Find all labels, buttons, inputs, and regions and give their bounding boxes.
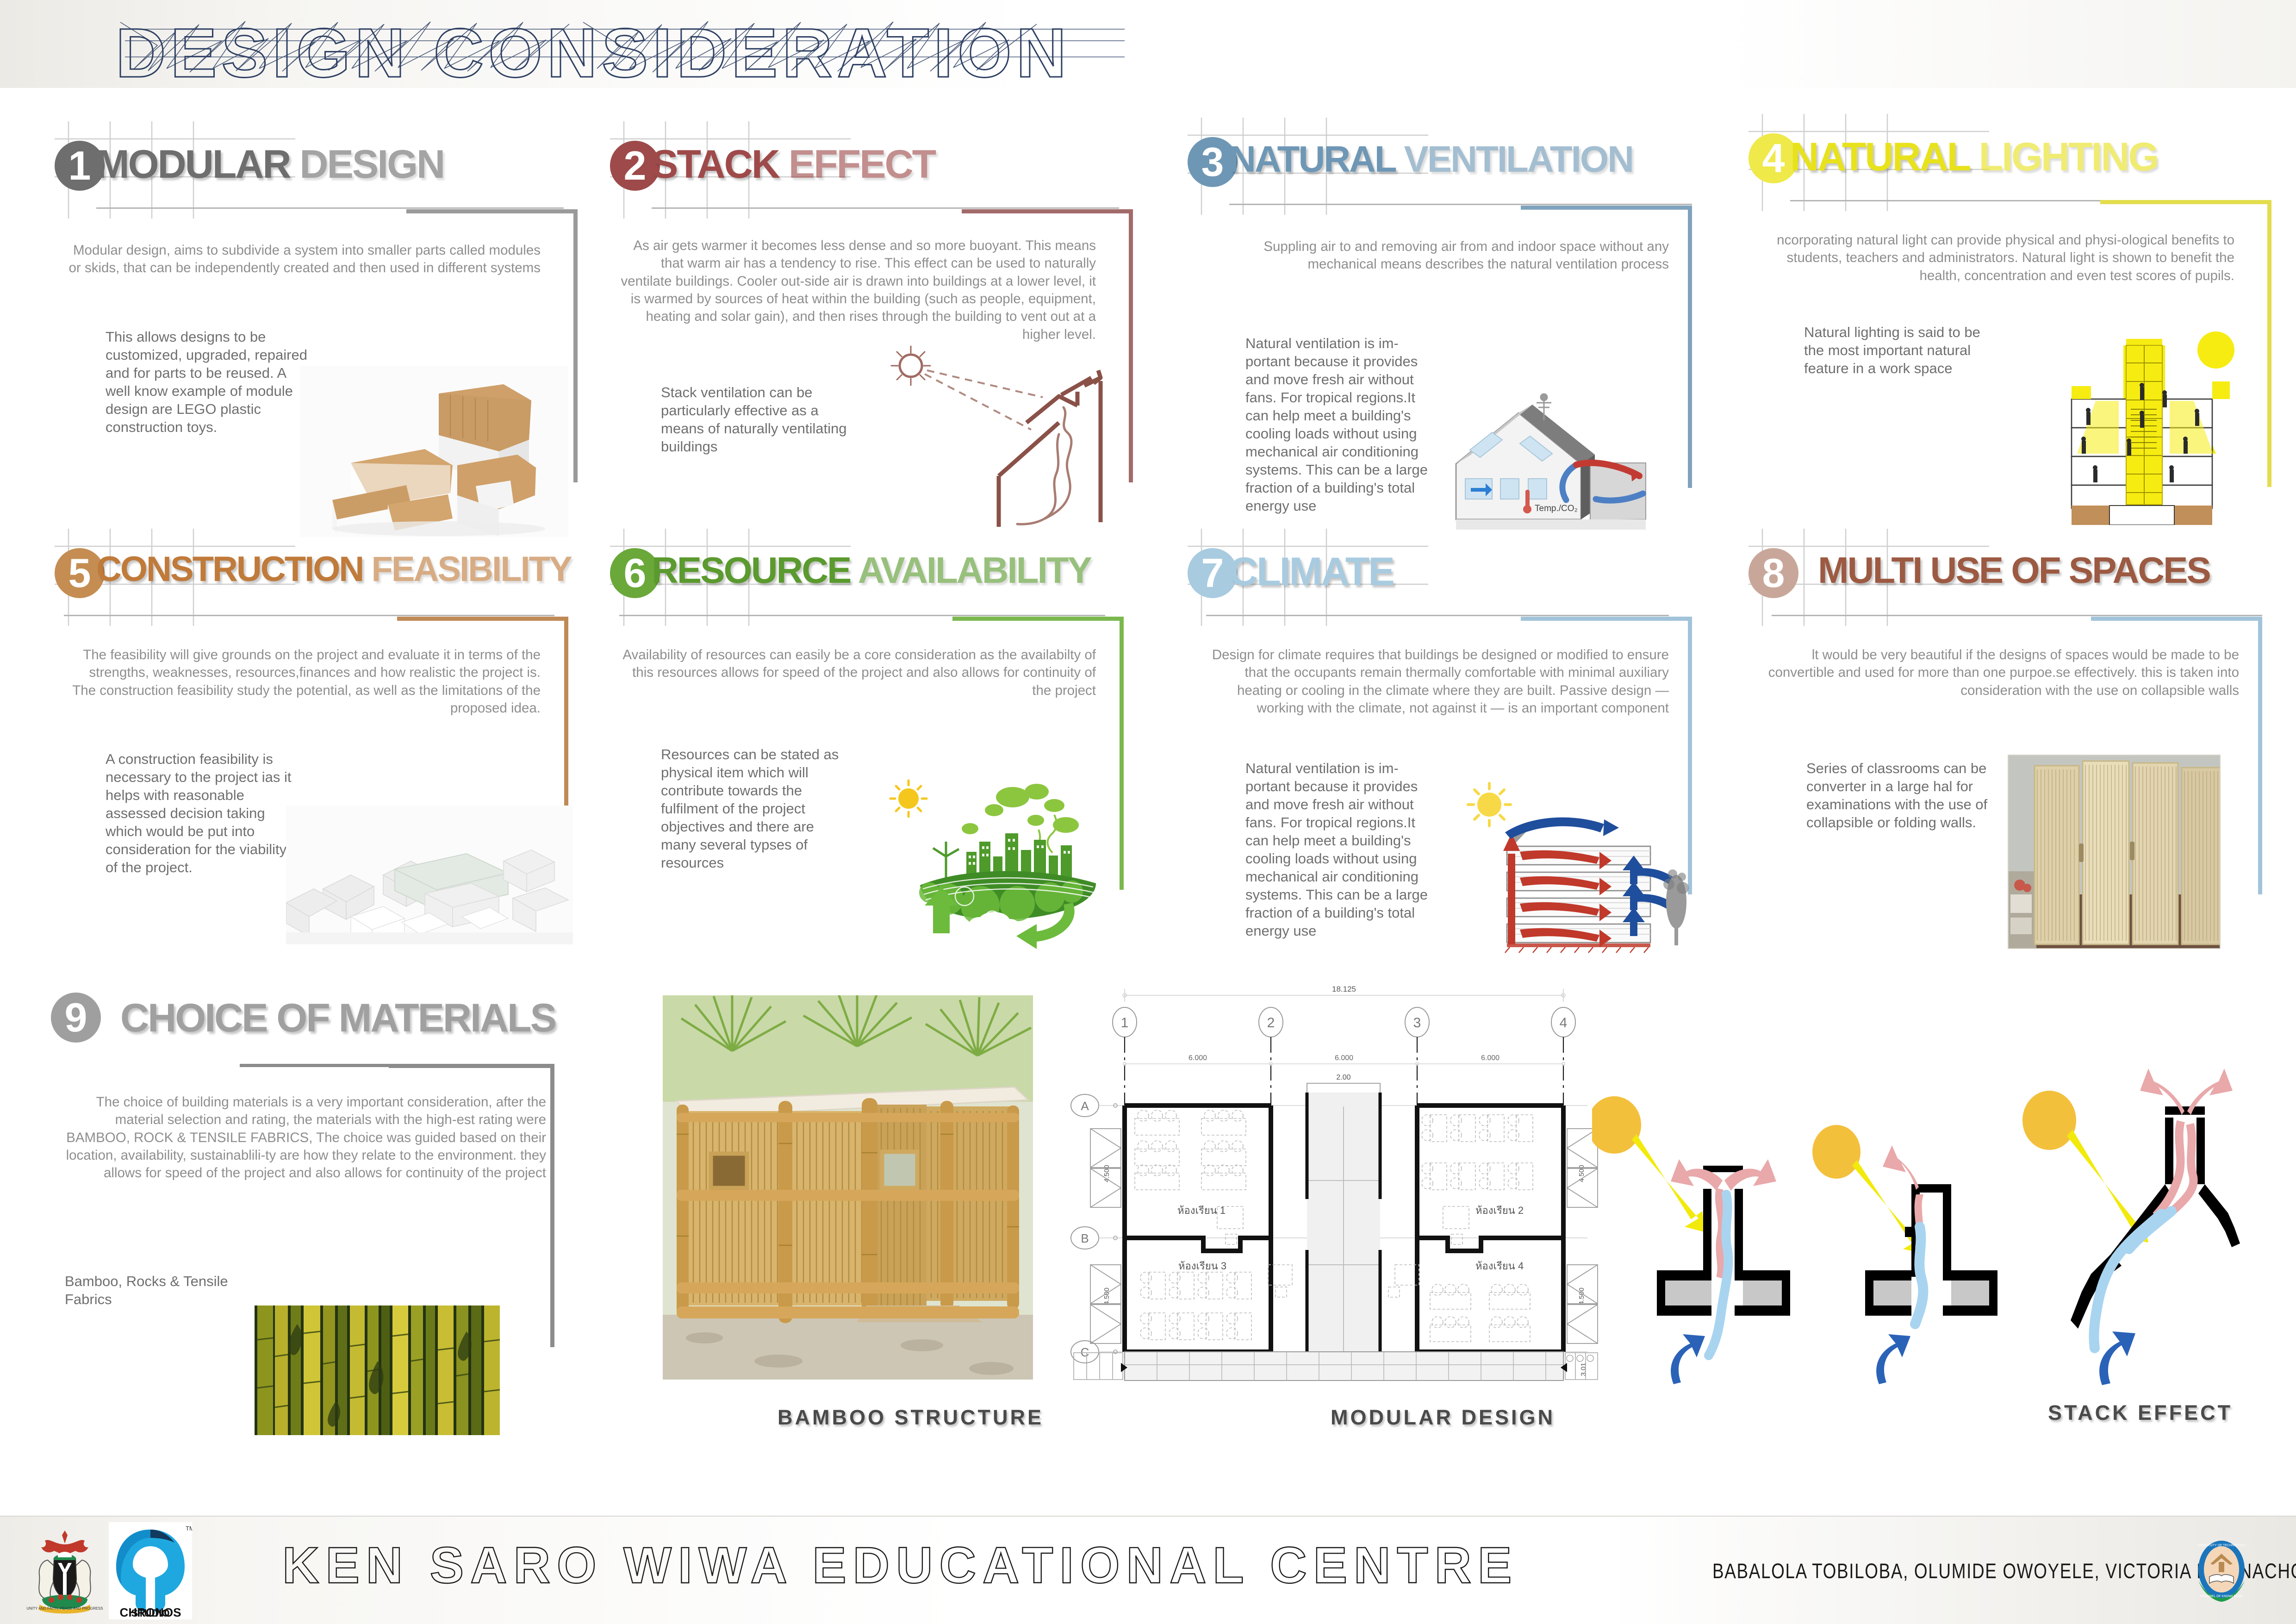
section-choice-of-materials: 9 CHOICE OF MATERIALS The choice of buil…: [46, 981, 583, 1051]
svg-text:UNIVERSITY OF TECHNOLOGY: UNIVERSITY OF TECHNOLOGY: [2197, 1544, 2246, 1547]
section-intro-text: Suppling air to and removing air from an…: [1201, 238, 1669, 274]
stack-diagram-1: [1592, 1096, 1790, 1384]
classroom-floor-plan: 18.125 1 2 3 4 6.000 6.000: [1064, 981, 1620, 1389]
studio-sub-label: STUDIO: [109, 1607, 192, 1619]
grid-label-2: 2: [1267, 1015, 1275, 1031]
section-header: 2 STACK EFFECT: [610, 139, 1119, 208]
title-underline: [619, 615, 1105, 616]
section-intro-text: As air gets warmer it becomes less dense…: [619, 237, 1096, 344]
passive-cooling-section-diagram: [1437, 778, 1697, 954]
title-underline: [1229, 204, 1692, 205]
section-header: 5 CONSTRUCTION FEASIBILITY: [55, 546, 578, 616]
stack-diagram-2: [1812, 1125, 1997, 1384]
section-title: NATURAL VENTILATION: [1229, 138, 1633, 181]
title-underline: [1206, 615, 1669, 616]
section-title-word1: MULTI USE OF SPACES: [1818, 550, 2210, 591]
svg-text:TM: TM: [186, 1525, 192, 1532]
section-detail-text: Natural lighting is said to be the most …: [1804, 323, 2003, 377]
section-construction-feasibility: 5 CONSTRUCTION FEASIBILITY The feasibili…: [55, 546, 578, 616]
footer-project-title: KEN SARO WIWA EDUCATIONAL CENTRE: [282, 1536, 1518, 1595]
section-title-word1: STACK: [652, 142, 779, 187]
section-intro-text: lt would be very beautiful if the design…: [1758, 646, 2239, 700]
section-title-word1: CONSTRUCTION: [96, 550, 363, 589]
section-header: 7 CLIMATE: [1188, 546, 1692, 616]
section-title-word1: RESOURCE: [652, 550, 850, 591]
section-title-word1: CLIMATE: [1229, 550, 1394, 594]
grid-label-3: 3: [1413, 1015, 1421, 1031]
title-underline: [64, 615, 554, 616]
section-intro-text: Design for climate requires that buildin…: [1197, 646, 1669, 717]
section-header: 1 MODULAR DESIGN: [55, 139, 564, 208]
section-title-word1: CHOICE OF MATERIALS: [120, 996, 555, 1040]
bay-dimension-2: 6.000: [1335, 1054, 1353, 1062]
grid-label-A: A: [1081, 1099, 1089, 1113]
section-title-word2: AVAILABILITY: [858, 550, 1091, 591]
section-title-word2: VENTILATION: [1404, 138, 1632, 180]
section-title-word1: MODULAR: [96, 142, 290, 187]
section-title: MODULAR DESIGN: [96, 142, 444, 187]
section-title: CONSTRUCTION FEASIBILITY: [96, 549, 571, 589]
grid-label-4: 4: [1560, 1015, 1568, 1031]
section-resource-availability: 6 RESOURCE AVAILABILITY Availability of …: [610, 546, 1119, 616]
modular-furniture-photo: [300, 366, 568, 537]
section-number-badge: 9: [51, 993, 101, 1043]
nigeria-coat-of-arms-icon: UNITY AND FAITH, PEACE AND PROGRESS: [25, 1527, 104, 1615]
grid-label-1: 1: [1121, 1015, 1129, 1031]
overall-dimension-label: 18.125: [1332, 985, 1356, 993]
board-title-bar: DESIGN CONSIDERATION: [0, 0, 2296, 88]
room-label-4: ห้องเรียน 4: [1475, 1260, 1524, 1272]
section-detail-text: Series of classrooms can be converter in…: [1806, 759, 1996, 831]
row-dimension-4: 4.500: [1578, 1287, 1586, 1305]
section-detail-text: Resources can be stated as physical item…: [661, 745, 846, 872]
bay-dimension-1: 6.000: [1188, 1054, 1207, 1062]
caption-stack-effect: STACK EFFECT: [2048, 1401, 2233, 1425]
svg-text:Temp./CO₂: Temp./CO₂: [1535, 504, 1578, 513]
section-detail-text: Stack ventilation can be particularly ef…: [661, 383, 855, 456]
svg-text:CHANNEL OF KNOWLEDGE: CHANNEL OF KNOWLEDGE: [2200, 1595, 2243, 1598]
section-header: 6 RESOURCE AVAILABILITY: [610, 546, 1119, 616]
row-dimension-2: 4.500: [1103, 1287, 1111, 1305]
daylight-building-section: [2031, 317, 2253, 525]
section-modular-design: 1 MODULAR DESIGN Modular design, aims to…: [55, 139, 564, 208]
section-title: STACK EFFECT: [652, 142, 935, 187]
section-intro-text: Availability of resources can easily be …: [619, 646, 1096, 700]
section-title-word2: LIGHTING: [1979, 135, 2158, 179]
section-natural-lighting: 4 NATURAL LIGHTING ncorporating natural …: [1748, 131, 2258, 201]
section-header: 9 CHOICE OF MATERIALS: [46, 981, 583, 1051]
section-header: 4 NATURAL LIGHTING: [1748, 131, 2258, 201]
section-header: 8 MULTI USE OF SPACES: [1748, 546, 2262, 616]
footer-bar: UNITY AND FAITH, PEACE AND PROGRESS TM C…: [0, 1516, 2296, 1624]
section-title: RESOURCE AVAILABILITY: [652, 549, 1091, 592]
core-dimension: 2.00: [1336, 1074, 1350, 1081]
section-detail-text: A construction feasibility is necessary …: [106, 750, 300, 876]
section-title-word1: NATURAL: [1790, 135, 1969, 179]
section-detail-text: Bamboo, Rocks & Tensile Fabrics: [65, 1272, 259, 1308]
title-underline: [1790, 200, 2258, 201]
section-title-word2: DESIGN: [299, 142, 444, 187]
title-underline: [652, 207, 1119, 209]
terrace-dimension: 3.01: [1580, 1362, 1587, 1376]
section-natural-ventilation: 3 NATURAL VENTILATION Suppling air to an…: [1188, 135, 1692, 205]
chronos-studio-logo: TM CHRONOS: [109, 1522, 192, 1619]
stack-effect-diagrams: [1592, 1042, 2296, 1393]
section-intro-text: The choice of building materials is a ve…: [56, 1093, 546, 1182]
section-detail-text: Natural ventilation is im-portant becaus…: [1245, 759, 1431, 940]
title-underline: [1772, 615, 2262, 616]
bay-dimension-3: 6.000: [1481, 1054, 1500, 1062]
section-intro-text: Modular design, aims to subdivide a syst…: [68, 242, 541, 277]
section-title-word2: FEASIBILITY: [371, 550, 571, 589]
page-title: DESIGN CONSIDERATION: [116, 13, 1071, 93]
section-multi-use-of-spaces: 8 MULTI USE OF SPACES lt would be very b…: [1748, 546, 2262, 616]
section-detail-text: This allows designs to be customized, up…: [106, 328, 314, 436]
title-underline: [96, 207, 564, 209]
bamboo-pavilion-photo: [663, 995, 1033, 1380]
section-climate: 7 CLIMATE Design for climate requires th…: [1188, 546, 1692, 616]
grid-label-B: B: [1081, 1231, 1089, 1245]
room-label-1: ห้องเรียน 1: [1177, 1205, 1226, 1216]
university-seal-icon: UNIVERSITY OF TECHNOLOGY CHANNEL OF KNOW…: [2194, 1538, 2249, 1603]
section-title-word2: EFFECT: [789, 142, 935, 187]
section-title: NATURAL LIGHTING: [1790, 134, 2158, 180]
caption-bamboo-structure: BAMBOO STRUCTURE: [778, 1405, 1044, 1430]
ventilated-house-diagram: Temp./CO₂: [1437, 381, 1697, 538]
stack-diagram-3: [2022, 1068, 2240, 1385]
caption-modular-design: MODULAR DESIGN: [1331, 1405, 1555, 1430]
green-city-ecology-graphic: [855, 764, 1124, 949]
bamboo-grove-photo: [255, 1305, 500, 1435]
section-title: CLIMATE: [1229, 549, 1394, 595]
room-label-3: ห้องเรียน 3: [1178, 1260, 1226, 1272]
section-number-badge: 8: [1748, 548, 1798, 598]
section-title: MULTI USE OF SPACES: [1818, 549, 2210, 592]
svg-text:UNITY AND FAITH, PEACE AND PRO: UNITY AND FAITH, PEACE AND PROGRESS: [26, 1606, 103, 1611]
section-header: 3 NATURAL VENTILATION: [1188, 135, 1692, 205]
white-massing-model: [286, 806, 573, 944]
section-title-word1: NATURAL: [1229, 138, 1395, 180]
section-intro-text: The feasibility will give grounds on the…: [64, 646, 541, 717]
section-title: CHOICE OF MATERIALS: [120, 995, 555, 1041]
section-intro-text: ncorporating natural light can provide p…: [1762, 231, 2234, 285]
grid-label-C: C: [1081, 1345, 1089, 1359]
section-detail-text: Natural ventilation is im-portant becaus…: [1245, 334, 1435, 515]
stack-effect-sketch: [860, 337, 1124, 531]
room-label-2: ห้องเรียน 2: [1475, 1205, 1524, 1216]
folding-bamboo-screen-photo: [2008, 755, 2221, 949]
section-stack-effect: 2 STACK EFFECT As air gets warmer it bec…: [610, 139, 1119, 208]
title-underline: [240, 1064, 554, 1067]
